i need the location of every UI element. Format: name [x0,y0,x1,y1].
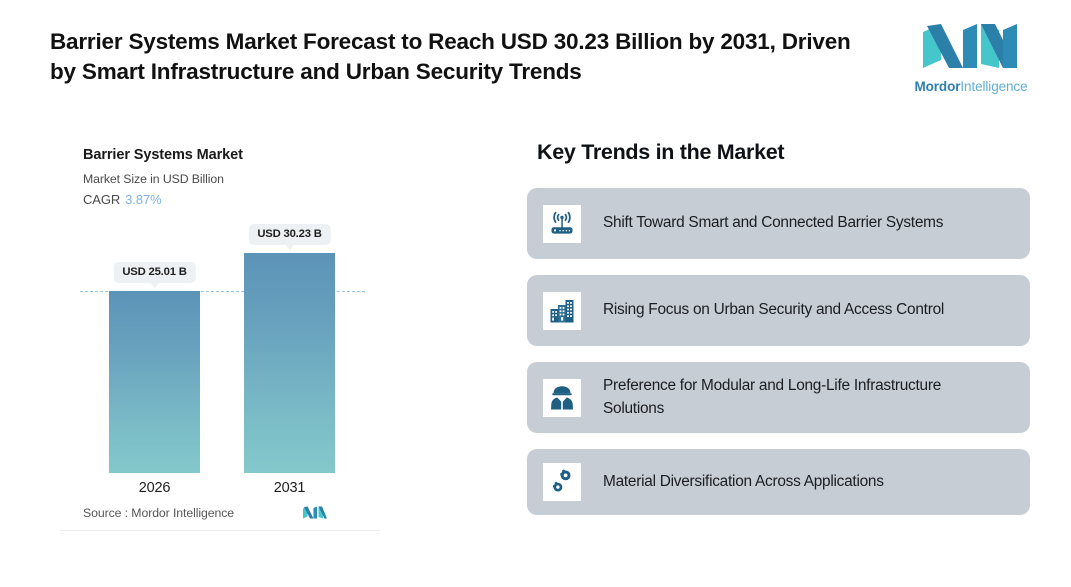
brand-name-secondary: Intelligence [960,79,1027,94]
trend-label: Preference for Modular and Long-Life Inf… [603,375,1016,420]
chart-plot-area: USD 25.01 B USD 30.23 B [60,228,380,473]
infographic-page: Barrier Systems Market Forecast to Reach… [0,0,1071,587]
trend-label: Material Diversification Across Applicat… [603,471,898,493]
key-trends-panel: Key Trends in the Market [527,140,1031,531]
x-axis-label-2026: 2026 [109,480,200,496]
chart-source-text: Source : Mordor Intelligence [83,506,234,520]
page-header: Barrier Systems Market Forecast to Reach… [0,0,1071,112]
trend-card-modular-infrastructure[interactable]: Preference for Modular and Long-Life Inf… [527,362,1030,433]
trend-card-material-diversification[interactable]: Material Diversification Across Applicat… [527,449,1030,515]
construction-worker-icon [543,379,581,417]
trend-card-urban-security[interactable]: Rising Focus on Urban Security and Acces… [527,275,1030,346]
bar-value-label-2031: USD 30.23 B [248,224,330,245]
page-title: Barrier Systems Market Forecast to Reach… [50,27,880,87]
wifi-router-icon [543,205,581,243]
key-trends-heading: Key Trends in the Market [537,140,1031,165]
mordor-logo-mark [919,20,1023,72]
chart-subtitle: Market Size in USD Billion [83,172,224,186]
chart-cagr: CAGR3.87% [83,192,162,207]
brand-name-primary: Mordor [914,79,960,94]
mordor-logo-mark-small [302,505,328,520]
chart-title: Barrier Systems Market [83,147,243,163]
bar-2026 [109,291,200,473]
x-axis-label-2031: 2031 [244,480,335,496]
bar-value-label-2026: USD 25.01 B [113,262,195,283]
trend-label: Rising Focus on Urban Security and Acces… [603,299,958,321]
trend-label: Shift Toward Smart and Connected Barrier… [603,212,957,234]
cagr-label: CAGR [83,192,120,207]
mordor-intelligence-logo: MordorIntelligence [911,20,1031,94]
gears-icon [543,463,581,501]
chart-source: Source : Mordor Intelligence [83,505,363,520]
bar-2031 [244,253,335,473]
brand-wordmark: MordorIntelligence [914,79,1027,94]
cagr-value: 3.87% [125,192,161,207]
market-size-chart-card: Barrier Systems Market Market Size in US… [60,128,380,531]
city-buildings-icon [543,292,581,330]
trend-card-smart-connected[interactable]: Shift Toward Smart and Connected Barrier… [527,188,1030,259]
